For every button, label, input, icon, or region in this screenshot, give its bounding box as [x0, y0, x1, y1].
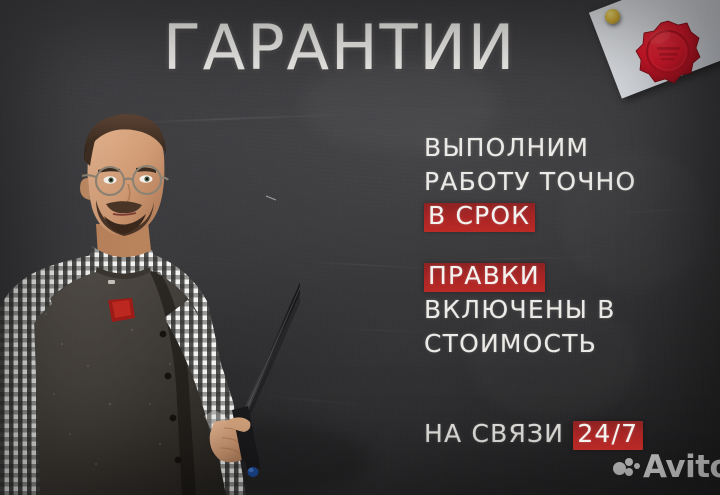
benefits-list: ВЫПОЛНИМ РАБОТУ ТОЧНО В СРОК ПРАВКИ ВКЛЮ…: [424, 131, 692, 451]
highlight-mark: 24/7: [573, 417, 643, 451]
benefit-line: РАБОТУ ТОЧНО: [424, 165, 692, 199]
avito-logo-dots-icon: [613, 457, 640, 479]
benefit-line: ВКЛЮЧЕНЫ В: [424, 293, 692, 327]
head: [80, 114, 168, 236]
pocket-square-icon: [108, 298, 135, 322]
benefit-block-availability: НА СВЯЗИ 24/7: [424, 417, 692, 451]
page-title: ГАРАНТИИ: [163, 17, 516, 79]
highlight-mark: ПРАВКИ: [424, 259, 545, 293]
presenter-figure: [0, 104, 300, 495]
benefit-line-highlighted: ПРАВКИ: [424, 259, 692, 293]
benefit-block-revisions: ПРАВКИ ВКЛЮЧЕНЫ В СТОИМОСТЬ: [424, 259, 692, 361]
benefit-line: ВЫПОЛНИМ: [424, 131, 692, 165]
benefit-block-deadline: ВЫПОЛНИМ РАБОТУ ТОЧНО В СРОК: [424, 131, 692, 233]
pushpin-icon: [605, 9, 620, 24]
avito-brand-label: Avito: [643, 452, 720, 483]
avito-watermark: Avito: [613, 452, 720, 483]
benefit-line-highlighted: В СРОК: [424, 199, 692, 233]
wax-seal-icon: [634, 19, 702, 91]
benefit-line: СТОИМОСТЬ: [424, 327, 692, 361]
lapel-pin: [108, 280, 115, 284]
benefit-line: НА СВЯЗИ: [424, 419, 573, 448]
highlight-mark: В СРОК: [424, 199, 535, 233]
advertisement-banner: ГАРАНТИИ: [0, 0, 720, 495]
